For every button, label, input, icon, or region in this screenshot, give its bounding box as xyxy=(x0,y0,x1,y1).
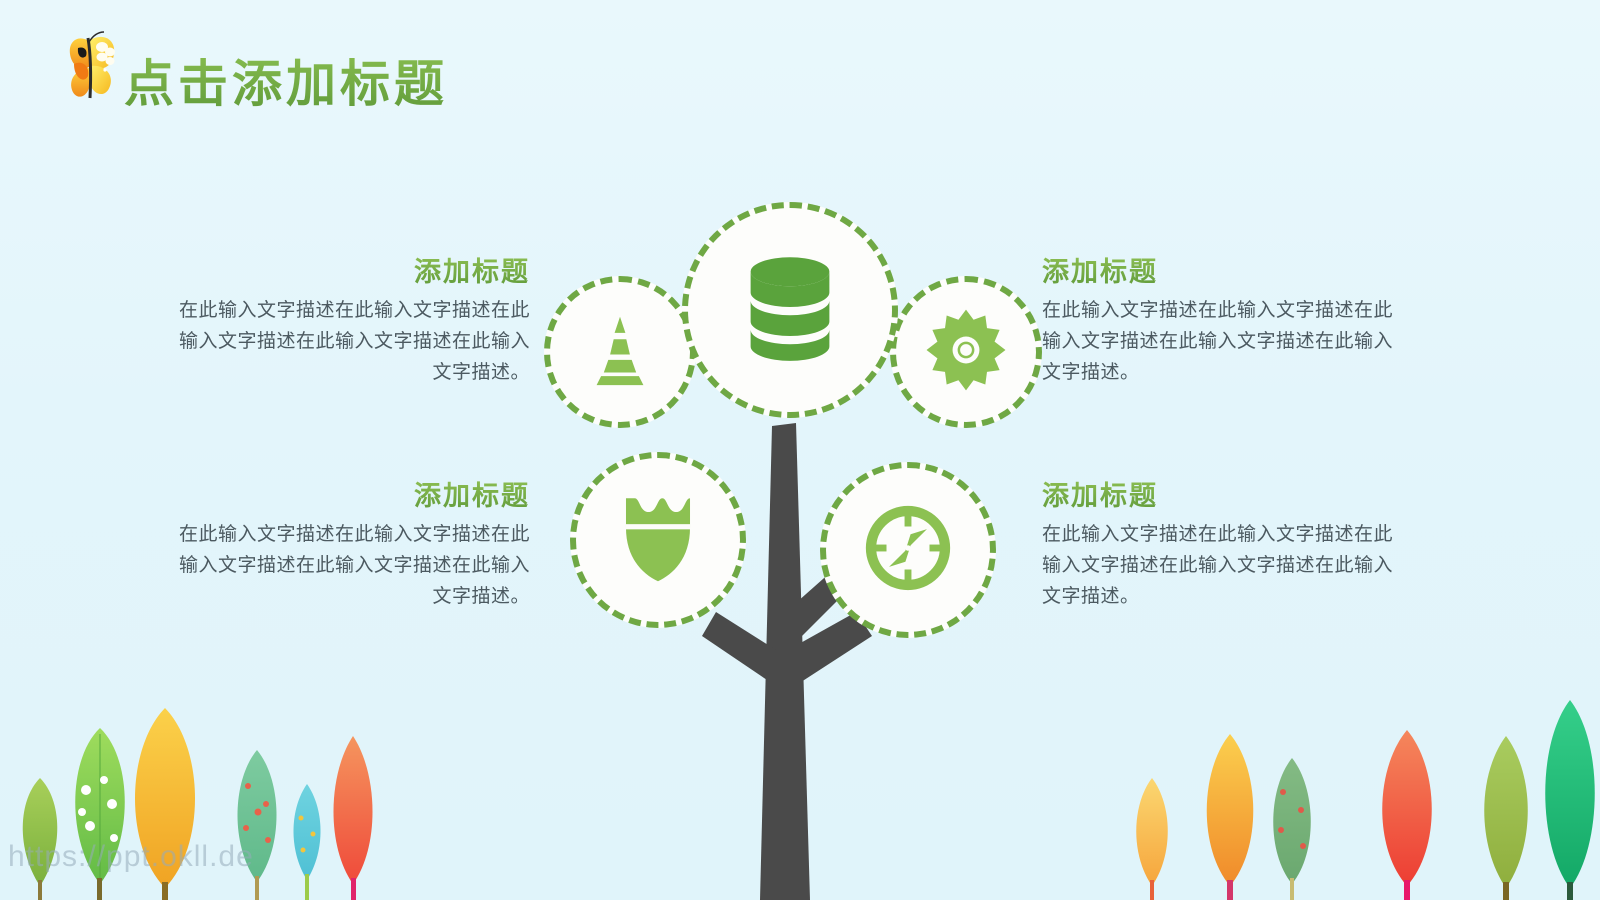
block-body: 在此输入文字描述在此输入文字描述在此输入文字描述在此输入文字描述在此输入文字描述… xyxy=(160,519,530,612)
ground-tree xyxy=(1273,758,1311,900)
page-title: 点击添加标题 xyxy=(124,44,448,116)
ground-tree xyxy=(1545,700,1595,900)
ground-tree xyxy=(237,750,276,900)
block-heading: 添加标题 xyxy=(160,474,530,513)
ground-tree xyxy=(333,736,372,900)
tree-node-left[interactable] xyxy=(544,276,696,428)
block-heading: 添加标题 xyxy=(160,250,530,289)
ground-tree xyxy=(1136,778,1168,900)
tree-node-right[interactable] xyxy=(890,276,1042,428)
tree-node-center[interactable] xyxy=(682,202,898,418)
ground-tree xyxy=(1484,736,1528,900)
site-watermark: https://ppt.okll.de xyxy=(8,840,254,874)
ground-tree xyxy=(10,778,57,900)
page-header: 点击添加标题 xyxy=(60,18,448,116)
content-block-top-left: 添加标题 在此输入文字描述在此输入文字描述在此输入文字描述在此输入文字描述在此输… xyxy=(160,250,530,388)
block-body: 在此输入文字描述在此输入文字描述在此输入文字描述在此输入文字描述在此输入文字描述… xyxy=(1042,519,1412,612)
database-icon xyxy=(738,251,842,370)
butterfly-icon xyxy=(60,26,118,108)
tree-node-lower-left[interactable] xyxy=(570,452,746,628)
gear-icon xyxy=(924,308,1008,397)
content-block-bottom-right: 添加标题 在此输入文字描述在此输入文字描述在此输入文字描述在此输入文字描述在此输… xyxy=(1042,474,1412,612)
block-heading: 添加标题 xyxy=(1042,474,1412,513)
block-heading: 添加标题 xyxy=(1042,250,1412,289)
ground-tree xyxy=(293,784,320,900)
ground-tree xyxy=(1207,734,1254,900)
shield-icon xyxy=(619,493,697,588)
traffic-cone-icon xyxy=(584,313,656,392)
compass-icon xyxy=(865,505,951,596)
block-body: 在此输入文字描述在此输入文字描述在此输入文字描述在此输入文字描述在此输入文字描述… xyxy=(160,295,530,388)
content-block-bottom-left: 添加标题 在此输入文字描述在此输入文字描述在此输入文字描述在此输入文字描述在此输… xyxy=(160,474,530,612)
block-body: 在此输入文字描述在此输入文字描述在此输入文字描述在此输入文字描述在此输入文字描述… xyxy=(1042,295,1412,388)
ground-tree xyxy=(1382,730,1432,900)
content-block-top-right: 添加标题 在此输入文字描述在此输入文字描述在此输入文字描述在此输入文字描述在此输… xyxy=(1042,250,1412,388)
tree-node-lower-right[interactable] xyxy=(820,462,996,638)
ground-tree xyxy=(75,728,125,900)
